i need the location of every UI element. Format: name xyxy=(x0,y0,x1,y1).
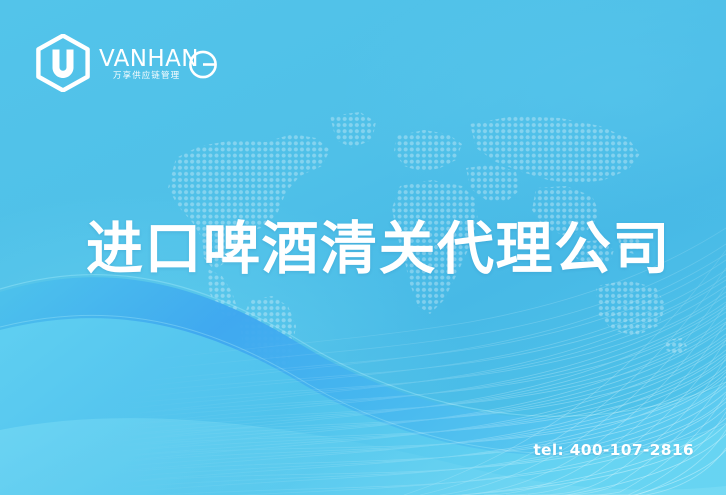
hexagon-u-monogram-icon xyxy=(36,34,90,97)
contact-phone[interactable]: tel: 400-107-2816 xyxy=(533,441,694,459)
promo-banner: VANHAN 万享供应链管理 进口啤酒清关代理公司 tel: 400-107-2… xyxy=(0,0,726,495)
page-title: 进口啤酒清关代理公司 xyxy=(86,213,656,285)
brand-wordmark: VANHAN 万享供应链管理 xyxy=(99,42,217,88)
brand-subtitle: 万享供应链管理 xyxy=(113,69,180,81)
brand-logo[interactable]: VANHAN 万享供应链管理 xyxy=(36,36,217,94)
